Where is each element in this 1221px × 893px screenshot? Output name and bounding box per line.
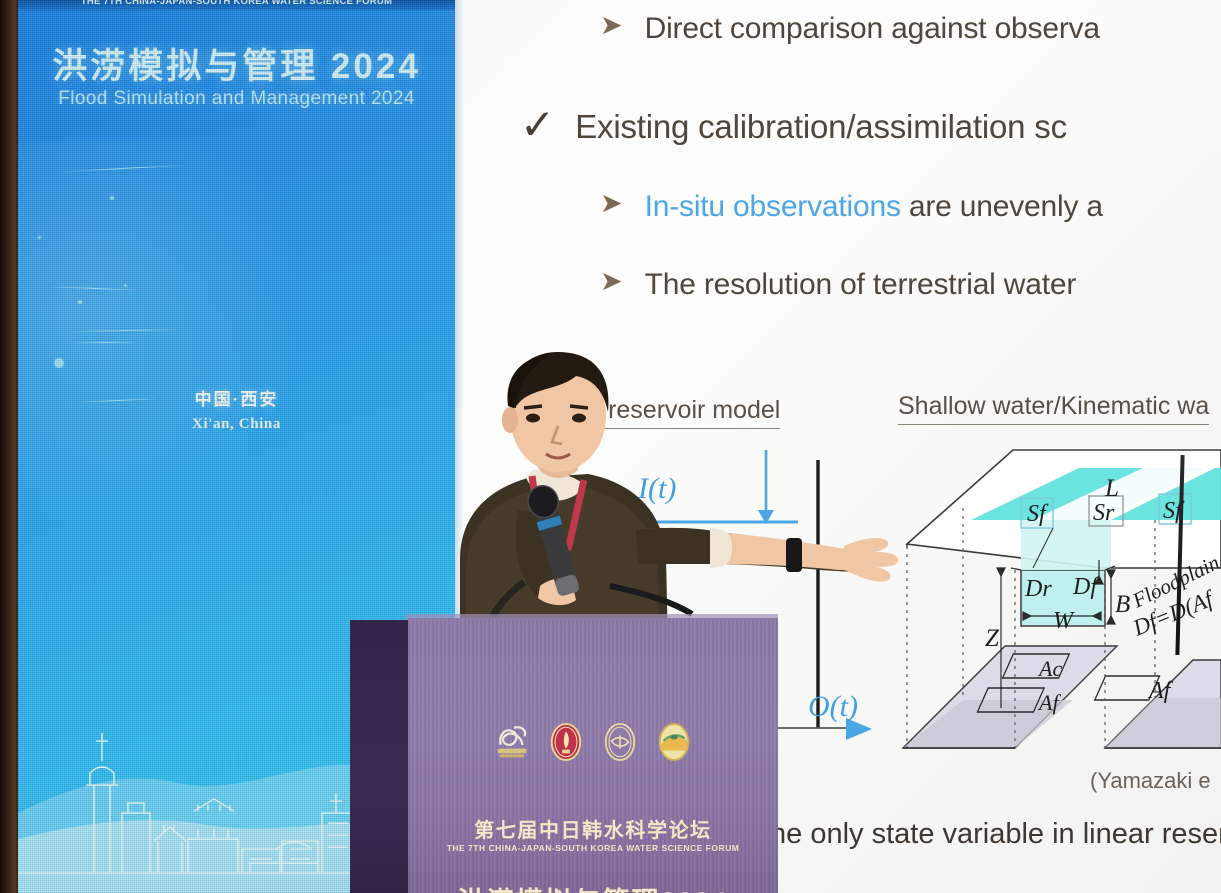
arrow-bullet-icon: ➤: [600, 12, 623, 39]
bullet-in-situ-observations: ➤ In-situ observations are unevenly a: [600, 190, 1103, 224]
outflow-label: O(t): [808, 690, 858, 724]
forum-logo-3-icon: [601, 722, 639, 762]
label-ac: Ac: [1037, 656, 1062, 681]
bullet-text: In-situ observations are unevenly a: [645, 190, 1103, 224]
bullet-text: Existing calibration/assimilation sc: [575, 108, 1067, 146]
slide-footer-text: he only state variable in linear reserv: [770, 818, 1221, 851]
citation-yamazaki: (Yamazaki e: [1090, 768, 1211, 794]
podium-subtitle-cn: 洪涝模拟与管理2024: [408, 880, 778, 893]
arrow-bullet-icon: ➤: [600, 268, 623, 295]
arrow-bullet-icon: ➤: [600, 190, 623, 217]
banner-city-en: Xi'an, China: [18, 416, 455, 433]
check-bullet-icon: ✓: [520, 108, 555, 142]
forum-logo-2-icon: [547, 722, 585, 762]
label-df: Df: [1072, 574, 1100, 600]
label-l: L: [1104, 475, 1119, 502]
podium: 第七届中日韩水科学论坛 THE 7TH CHINA-JAPAN-SOUTH KO…: [350, 618, 778, 893]
banner-glow: [18, 140, 338, 560]
bullet-existing-calibration: ✓ Existing calibration/assimilation sc: [520, 108, 1067, 146]
podium-logo-row: [408, 722, 778, 762]
banner-city-cn: 中国·西安: [18, 385, 455, 410]
label-dr: Dr: [1024, 576, 1052, 602]
podium-title-cn: 第七届中日韩水科学论坛: [408, 814, 778, 843]
presentation-photo: THE 7TH CHINA-JAPAN-SOUTH KOREA WATER SC…: [0, 0, 1221, 893]
label-b: B: [1115, 591, 1130, 618]
label-af-left: Af: [1037, 690, 1061, 715]
spark-line: [70, 342, 140, 343]
spark-dot: [78, 300, 82, 304]
label-sr: Sr: [1093, 500, 1115, 526]
speaker-figure: [400, 350, 920, 650]
spark-dot: [124, 284, 127, 287]
bullet-direct-comparison: ➤ Direct comparison against observa: [600, 12, 1100, 46]
heading-shallow-water: Shallow water/Kinematic wa: [898, 392, 1209, 425]
label-af-right: Af: [1147, 678, 1174, 704]
label-z: Z: [985, 625, 1000, 652]
floodplain-schematic: Sf Sr Sf L Dr Df W B Z Ac Af Af Floodpla…: [893, 448, 1221, 778]
highlight-text: In-situ observations: [645, 190, 901, 223]
spark-dot: [110, 196, 114, 200]
floodplain-svg: Sf Sr Sf L Dr Df W B Z Ac Af Af Floodpla…: [893, 448, 1221, 778]
bullet-text: Direct comparison against observa: [645, 12, 1100, 46]
banner-top-strip-text: THE 7TH CHINA-JAPAN-SOUTH KOREA WATER SC…: [18, 0, 455, 7]
label-w: W: [1053, 608, 1075, 634]
banner-title-en: Flood Simulation and Management 2024: [18, 88, 455, 110]
spark-dot: [38, 236, 41, 239]
bullet-rest: are unevenly a: [901, 190, 1103, 223]
bullet-text: The resolution of terrestrial water: [645, 268, 1077, 302]
forum-logo-4-icon: [655, 722, 693, 762]
dark-wall-strip: [0, 0, 20, 893]
podium-side-panel: [350, 620, 408, 893]
spark-dot: [54, 358, 64, 368]
forum-logo-1-icon: [493, 722, 531, 762]
podium-title-en: THE 7TH CHINA-JAPAN-SOUTH KOREA WATER SC…: [408, 843, 778, 853]
speaker-svg: [400, 350, 920, 650]
banner-title-cn: 洪涝模拟与管理 2024: [18, 38, 455, 89]
bullet-resolution-terrestrial: ➤ The resolution of terrestrial water: [600, 268, 1076, 302]
